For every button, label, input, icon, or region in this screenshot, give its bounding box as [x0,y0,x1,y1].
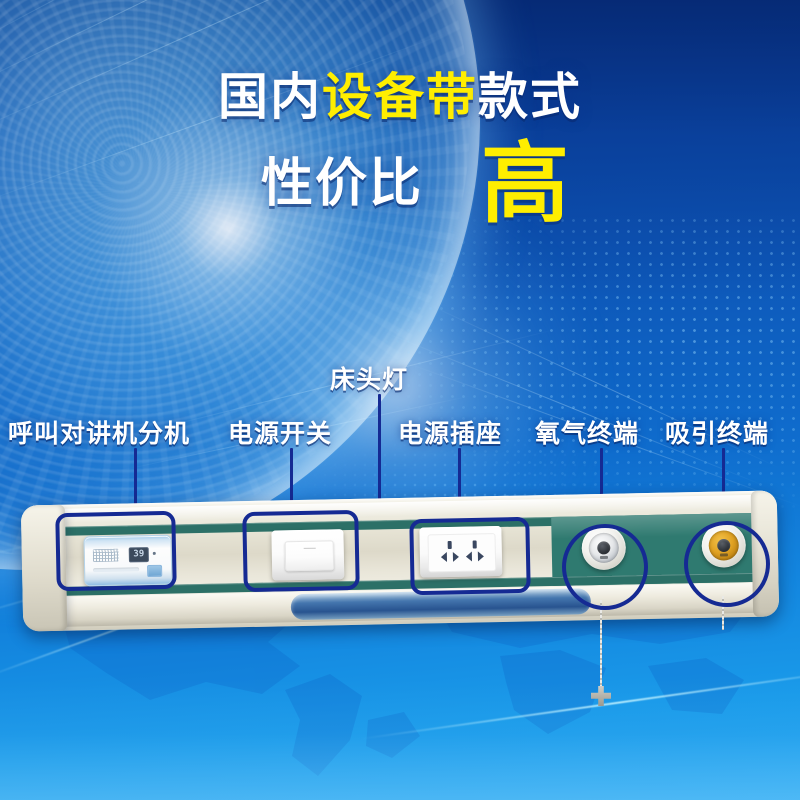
callout-outline-intercom [55,511,177,591]
banner-canvas: 国内设备带款式 性价比 高 呼叫对讲机分机电源开关床头灯电源插座氧气终端吸引终端… [0,0,800,800]
callout-labels-layer: 呼叫对讲机分机电源开关床头灯电源插座氧气终端吸引终端 [0,0,800,800]
callout-label-1: 电源开关 [228,414,332,450]
callout-label-3: 电源插座 [398,414,502,450]
callout-label-2: 床头灯 [330,360,408,396]
callout-outline-switch [242,510,360,592]
callout-label-0: 呼叫对讲机分机 [8,414,190,450]
light-pull-cord[interactable] [600,600,602,692]
callout-label-5: 吸引终端 [665,414,769,450]
callout-outline-suction [684,521,770,607]
callout-outline-socket [409,517,531,595]
callout-outline-oxygen [562,524,648,610]
callout-label-4: 氧气终端 [535,414,639,450]
